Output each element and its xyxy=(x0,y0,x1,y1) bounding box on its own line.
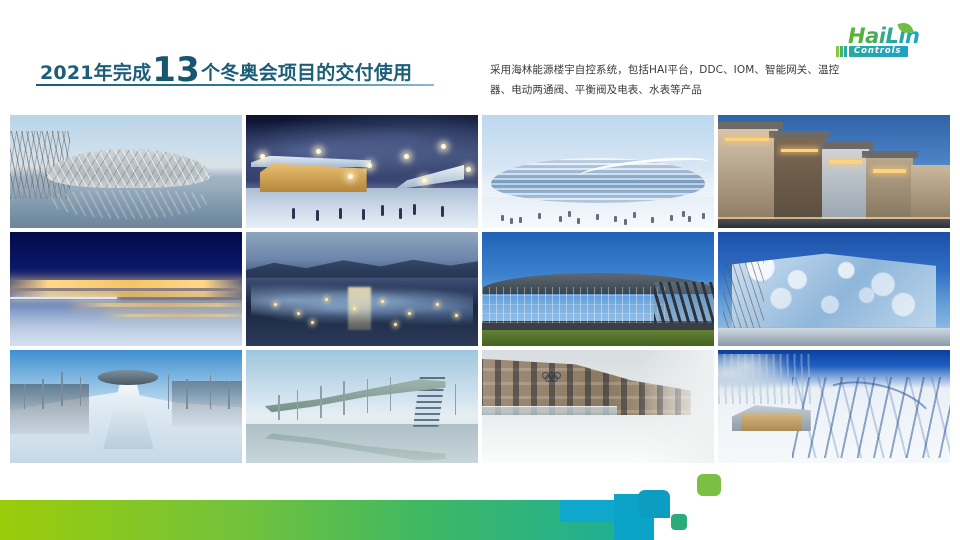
gallery-item-taizicheng-railway-station[interactable] xyxy=(482,232,714,345)
gallery-item-snow-covered-olympic-village[interactable] xyxy=(482,350,714,463)
olympic-rings-icon xyxy=(542,372,564,381)
page-title: 2021年完成 13 个冬奥会项目的交付使用 xyxy=(40,48,412,88)
title-suffix: 个冬奥会项目的交付使用 xyxy=(201,58,412,85)
footer-gradient-bar xyxy=(0,500,640,540)
gallery-item-national-speed-skating-oval-ice-ribbon[interactable] xyxy=(482,115,714,228)
gallery-item-olympic-village-aerial-dusk[interactable] xyxy=(246,232,478,345)
gallery-item-national-aquatics-centre-ice-cube[interactable] xyxy=(718,232,950,345)
footer-square-green-large xyxy=(697,474,721,496)
gallery-item-national-stadium-birds-nest[interactable] xyxy=(10,115,242,228)
gallery-item-illuminated-venue-night[interactable] xyxy=(10,232,242,345)
photo-illuminated-venue xyxy=(10,232,242,345)
footer-square-blue-top xyxy=(638,490,670,518)
photo-snow-village xyxy=(482,350,714,463)
photo-snow-park xyxy=(718,350,950,463)
photo-olympic-village-aerial xyxy=(246,232,478,345)
photo-water-cube xyxy=(718,232,950,345)
footer-square-green-small xyxy=(671,514,687,530)
slide-footer xyxy=(0,462,960,540)
title-underline xyxy=(36,84,434,86)
slide-header: 2021年完成 13 个冬奥会项目的交付使用 采用海林能源楼宇自控系统，包括HA… xyxy=(0,0,960,114)
gallery-item-ski-jumping-centre-snow-ruyi[interactable] xyxy=(10,350,242,463)
title-prefix: 2021年完成 xyxy=(40,58,151,85)
project-image-gallery xyxy=(10,115,950,463)
logo-tagline: Controls xyxy=(849,46,908,57)
gallery-item-cross-country-skiing-centre-night[interactable] xyxy=(246,115,478,228)
logo-bars-icon xyxy=(836,46,847,57)
photo-railway-station xyxy=(482,232,714,345)
photo-big-air-shougang xyxy=(246,350,478,463)
photo-ice-ribbon xyxy=(482,115,714,228)
photo-birds-nest xyxy=(10,115,242,228)
hailin-controls-logo: HaiLin Controls xyxy=(836,24,938,62)
photo-skiing-centre-night xyxy=(246,115,478,228)
description-text: 采用海林能源楼宇自控系统，包括HAI平台，DDC、IOM、智能网关、温控器、电动… xyxy=(490,60,840,100)
photo-alpine-hotel xyxy=(718,115,950,228)
gallery-item-big-air-shougang[interactable] xyxy=(246,350,478,463)
gallery-item-alpine-resort-hotel-dusk[interactable] xyxy=(718,115,950,228)
photo-snow-ruyi xyxy=(10,350,242,463)
presentation-slide: 2021年完成 13 个冬奥会项目的交付使用 采用海林能源楼宇自控系统，包括HA… xyxy=(0,0,960,540)
gallery-item-snow-park-aerial[interactable] xyxy=(718,350,950,463)
